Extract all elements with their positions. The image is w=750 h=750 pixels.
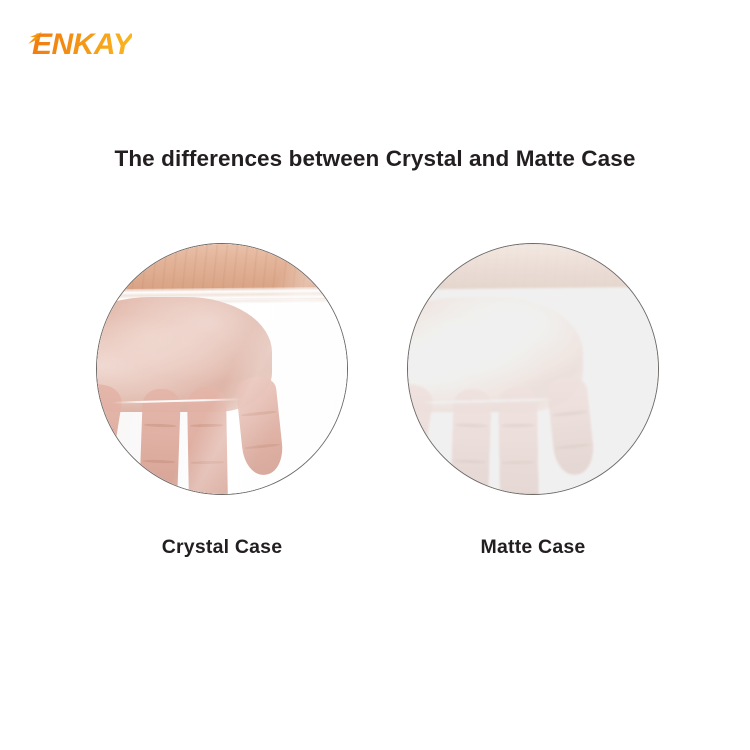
matte-case-photo-frame <box>407 243 659 495</box>
photo-gloss-highlight <box>97 244 347 494</box>
comparison-row <box>0 243 750 498</box>
photo-matte-haze <box>408 244 658 494</box>
matte-case-photo <box>408 244 658 494</box>
page-title: The differences between Crystal and Matt… <box>0 146 750 172</box>
crystal-case-photo <box>97 244 347 494</box>
brand-logo: ENKAY <box>30 28 132 62</box>
comparison-item-crystal <box>96 243 348 495</box>
brand-logo-text: ENKAY <box>30 30 132 60</box>
caption-crystal-case: Crystal Case <box>96 536 348 559</box>
comparison-item-matte <box>407 243 659 495</box>
crystal-case-photo-frame <box>96 243 348 495</box>
caption-matte-case: Matte Case <box>407 536 659 559</box>
